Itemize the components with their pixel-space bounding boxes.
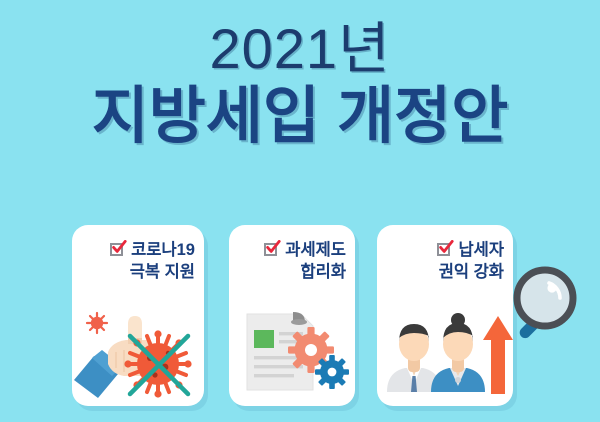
thumbs-up-virus-crossed-out-icon [72,306,204,398]
card-heading: 과세제도 합리화 [229,239,346,283]
title-main: 지방세입 개정안 [0,80,600,154]
title-block: 2021년 지방세입 개정안 [0,18,600,154]
checkbox-checked-icon [110,242,126,258]
checkbox-checked-icon [437,242,453,258]
card-title-line-1: 납세자 [377,239,504,261]
card-title-line-1: 코로나19 [72,239,195,261]
card-title-text-1: 납세자 [458,239,504,261]
document-gears-icon [229,306,355,398]
card-taxpayer-rights[interactable]: 납세자 권익 강화 [377,225,513,406]
checkbox-checked-icon [264,242,280,258]
card-title-line-1: 과세제도 [229,239,346,261]
card-title-text-1: 코로나19 [131,239,195,261]
card-title-line-2: 극복 지원 [72,261,195,283]
poster-canvas: 2021년 지방세입 개정안 코로나19 극복 지원 [0,0,600,422]
title-year: 2021년 [0,18,600,80]
card-title-line-2: 권익 강화 [377,261,504,283]
two-people-up-arrow-icon [377,306,513,398]
card-covid-support[interactable]: 코로나19 극복 지원 [72,225,204,406]
card-heading: 납세자 권익 강화 [377,239,504,283]
magnifying-glass-icon [505,258,597,350]
card-heading: 코로나19 극복 지원 [72,239,195,283]
card-tax-system-rationalization[interactable]: 과세제도 합리화 [229,225,355,406]
card-title-text-1: 과세제도 [285,239,346,261]
card-title-line-2: 합리화 [229,261,346,283]
